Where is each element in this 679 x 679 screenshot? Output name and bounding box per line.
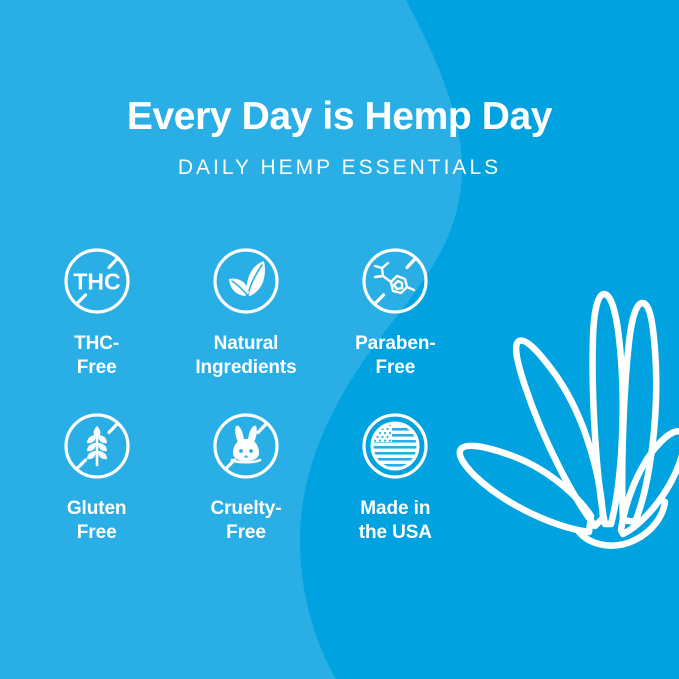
badge-made-in-usa: Made in the USA — [321, 408, 470, 546]
badge-label: Gluten Free — [67, 497, 127, 546]
badge-cruelty-free: Cruelty- Free — [171, 408, 320, 546]
badge-label: Natural Ingredients — [195, 332, 296, 381]
thc-free-icon: THC — [59, 243, 135, 319]
page-title: Every Day is Hemp Day — [0, 96, 679, 139]
badge-label: Made in the USA — [359, 497, 432, 546]
paraben-free-icon — [357, 243, 433, 319]
natural-leaves-icon — [208, 243, 284, 319]
gluten-free-icon — [59, 408, 135, 484]
page-subtitle: DAILY HEMP ESSENTIALS — [0, 156, 679, 180]
badge-label: Cruelty- Free — [210, 497, 281, 546]
made-in-usa-flag-icon — [357, 408, 433, 484]
hemp-plant-leaves-icon — [439, 240, 679, 550]
badge-thc-free: THC THC- Free — [22, 243, 171, 381]
badge-paraben-free: Paraben- Free — [321, 243, 470, 381]
badge-label: Paraben- Free — [355, 332, 436, 381]
badge-gluten-free: Gluten Free — [22, 408, 171, 546]
badge-label: THC- Free — [74, 332, 119, 381]
thc-icon-text: THC — [73, 269, 120, 295]
badge-natural-ingredients: Natural Ingredients — [171, 243, 320, 381]
cruelty-free-icon — [208, 408, 284, 484]
heading-block: Every Day is Hemp Day DAILY HEMP ESSENTI… — [0, 96, 679, 180]
hemp-promo-banner: Every Day is Hemp Day DAILY HEMP ESSENTI… — [0, 0, 679, 679]
feature-badge-grid: THC THC- Free Natural Ingredients — [22, 243, 470, 545]
